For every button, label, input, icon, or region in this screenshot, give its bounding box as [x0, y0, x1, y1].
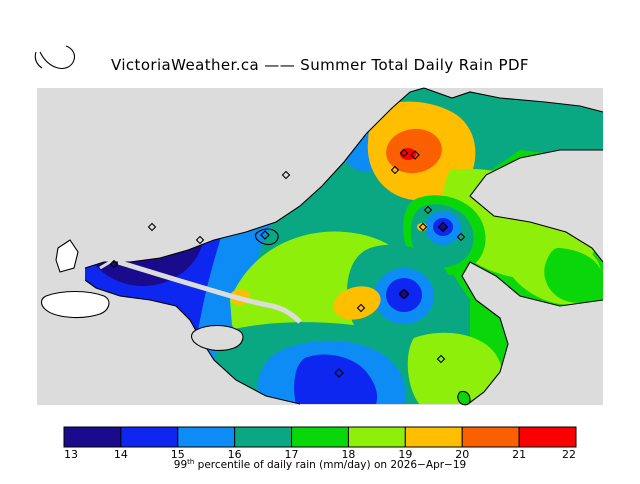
colorbar-caption: 99th percentile of daily rain (mm/day) o…	[174, 458, 466, 471]
colorbar-segment-20-21[interactable]	[462, 427, 519, 447]
colorbar-segment-18-19[interactable]	[348, 427, 405, 447]
colorbar-segments	[64, 427, 576, 447]
colorbar-segment-15-16[interactable]	[178, 427, 235, 447]
colorbar-panel: 13141516171819202122 99th percentile of …	[0, 420, 640, 480]
colorbar-segment-21-22[interactable]	[519, 427, 576, 447]
colorbar-segment-14-15[interactable]	[121, 427, 178, 447]
colorbar-segment-13-14[interactable]	[64, 427, 121, 447]
colorbar-tick-14: 14	[114, 448, 128, 461]
weather-map-page: VictoriaWeather.ca —— Summer Total Daily…	[0, 0, 640, 480]
lake-west	[42, 292, 109, 318]
map-panel	[0, 0, 640, 420]
contour-map-svg	[0, 0, 640, 420]
colorbar-tick-21: 21	[512, 448, 526, 461]
colorbar-segment-16-17[interactable]	[235, 427, 292, 447]
contour-core-13-14-central-low	[399, 290, 409, 299]
colorbar-svg: 13141516171819202122 99th percentile of …	[0, 420, 640, 480]
colorbar-tick-13: 13	[64, 448, 78, 461]
colorbar-tick-22: 22	[562, 448, 576, 461]
colorbar-segment-19-20[interactable]	[405, 427, 462, 447]
island-outline-northwest	[40, 46, 75, 69]
island-south	[458, 391, 470, 404]
colorbar-segment-17-18[interactable]	[292, 427, 349, 447]
